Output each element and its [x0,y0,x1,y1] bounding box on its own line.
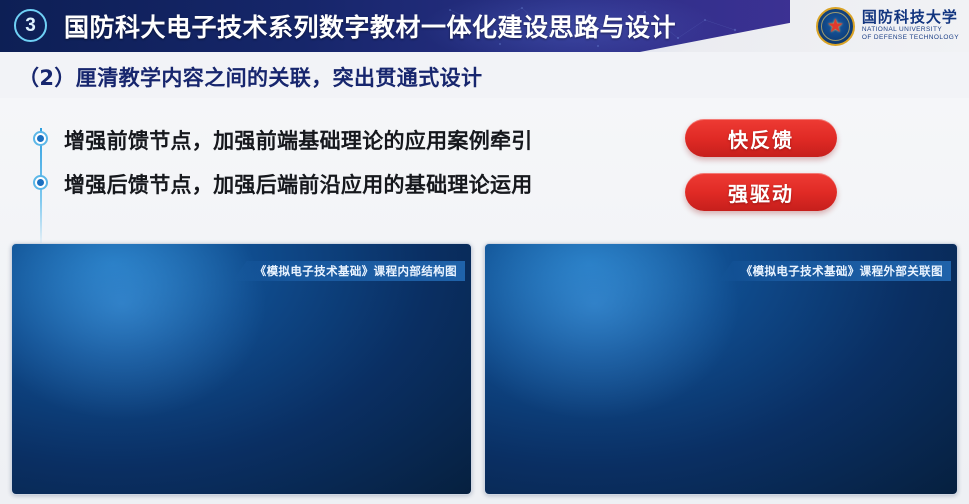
right-diagram-panel: 《模拟电子技术基础》课程外部关联图 数字电路与逻辑设计 •逻辑门电路 信号与系统… [484,243,958,495]
right-panel-title: 《模拟电子技术基础》课程外部关联图 [719,261,951,281]
university-logo: ★ 国防科技大学 NATIONAL UNIVERSITY OF DEFENSE … [816,5,959,47]
left-panel-title: 《模拟电子技术基础》课程内部结构图 [233,261,465,281]
panel-glow-decoration [484,243,745,424]
highlight-pill-fast-feedback: 快反馈 [685,119,837,157]
slide-header: 3 国防科大电子技术系列数字教材一体化建设思路与设计 ★ 国防科技大学 NATI… [0,0,969,52]
highlight-pill-strong-drive: 强驱动 [685,173,837,211]
section-subtitle: （2）厘清教学内容之间的关联，突出贯通式设计 [18,62,482,92]
logo-name-en-line2: OF DEFENSE TECHNOLOGY [862,34,959,42]
bullet-dot-icon [33,175,48,190]
left-diagram-panel: 《模拟电子技术基础》课程内部结构图 案例线 （一体多元） 理论线 （系统化） 实… [11,243,472,495]
bullet-text: 增强后馈节点，加强后端前沿应用的基础理论运用 [64,169,533,199]
list-item: 增强前馈节点，加强前端基础理论的应用案例牵引 [34,118,654,162]
section-number-badge: 3 [14,9,47,42]
bullet-dot-icon [33,131,48,146]
star-emblem-icon: ★ [816,7,855,46]
bullet-text: 增强前馈节点，加强前端基础理论的应用案例牵引 [64,125,533,155]
page-title: 国防科大电子技术系列数字教材一体化建设思路与设计 [64,8,676,44]
slide-root: 3 国防科大电子技术系列数字教材一体化建设思路与设计 ★ 国防科技大学 NATI… [0,0,969,504]
logo-text-block: 国防科技大学 NATIONAL UNIVERSITY OF DEFENSE TE… [862,10,959,42]
list-item: 增强后馈节点，加强后端前沿应用的基础理论运用 [34,162,654,206]
panel-glow-decoration [11,243,272,424]
bullet-list: 增强前馈节点，加强前端基础理论的应用案例牵引 增强后馈节点，加强后端前沿应用的基… [34,118,654,206]
logo-name-cn: 国防科技大学 [862,10,959,26]
logo-name-en-line1: NATIONAL UNIVERSITY [862,26,959,34]
emblem-ring-decoration [821,12,850,41]
